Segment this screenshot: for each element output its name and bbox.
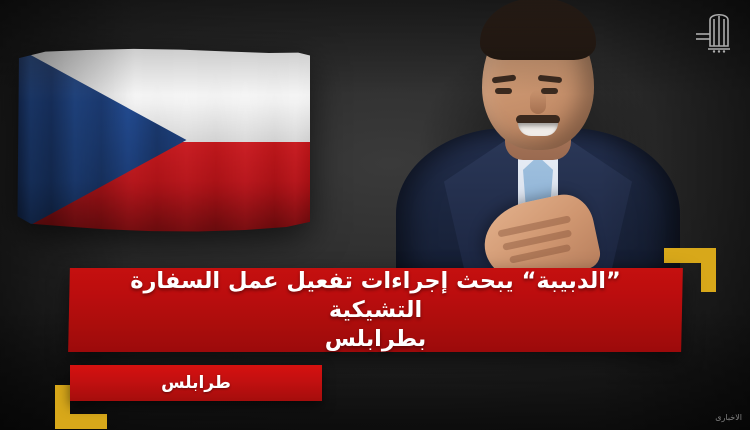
channel-watermark: الاخبارى xyxy=(715,413,742,422)
news-graphic-canvas: ”الدبيبة“ يبحث إجراءات تفعيل عمل السفارة… xyxy=(0,0,750,430)
headline-text: ”الدبيبة“ يبحث إجراءات تفعيل عمل السفارة… xyxy=(85,267,666,353)
channel-logo xyxy=(694,8,738,54)
headline-banner: ”الدبيبة“ يبحث إجراءات تفعيل عمل السفارة… xyxy=(68,268,683,352)
location-tag-label: طرابلس xyxy=(161,373,231,393)
location-tag: طرابلس xyxy=(70,365,322,401)
